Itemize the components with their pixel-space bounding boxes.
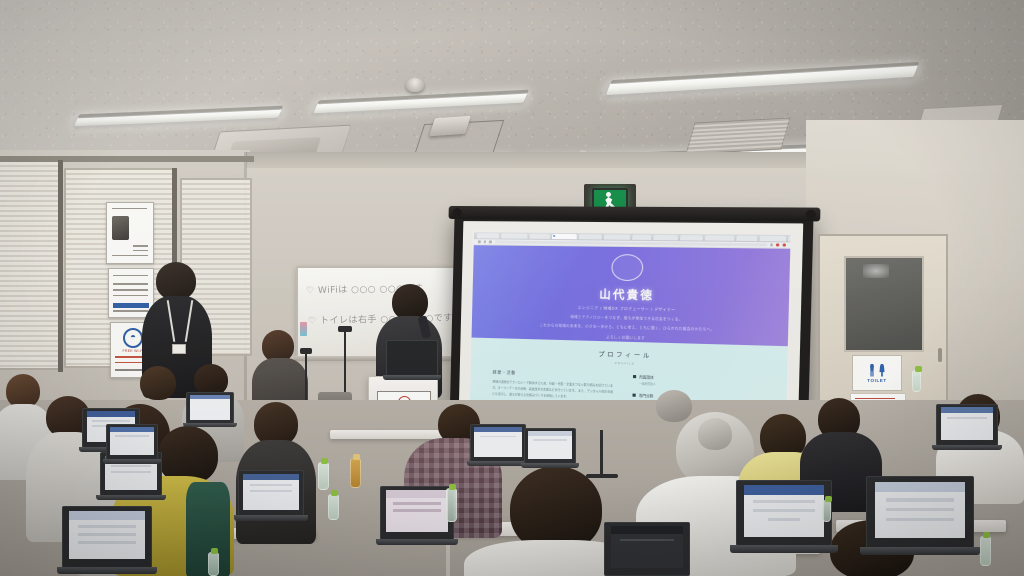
profile-item-label: 専門分野 <box>639 393 657 399</box>
browser-tab[interactable] <box>604 234 630 239</box>
circle-avatar-placeholder <box>611 254 643 281</box>
photo-scene: ◓ FREE Wi-Fi ♡ WiFiは ○○○ ○○○です ♡ トイレは右手 … <box>0 0 1024 576</box>
attendee-laptop[interactable] <box>470 424 526 462</box>
browser-tab[interactable] <box>477 233 499 238</box>
attendee-laptop[interactable] <box>62 506 152 568</box>
browser-tab[interactable] <box>736 236 757 241</box>
profile-item: 所属団体 一般社団法人 <box>633 374 763 390</box>
reload-icon[interactable] <box>489 241 492 244</box>
attendee-laptop[interactable] <box>380 486 454 540</box>
browser-tab[interactable] <box>632 235 651 240</box>
projected-browser-page: 山代貴徳 エンジニア / 地域DX プロデューサー / デザイナー 地域とテクノ… <box>470 232 791 413</box>
bookmark-icon[interactable] <box>770 244 773 247</box>
screen-top-rail <box>449 206 821 221</box>
browser-tab[interactable] <box>653 235 678 240</box>
attendee-head <box>140 366 176 400</box>
attendee-laptop[interactable] <box>604 522 690 576</box>
wall-soffit <box>246 152 826 168</box>
browser-tab[interactable] <box>788 236 790 242</box>
door-handle[interactable] <box>938 348 942 362</box>
tea-bottle[interactable] <box>350 458 361 488</box>
profile-left-heading: 経歴・活動 <box>493 369 617 379</box>
attendee-head <box>6 374 40 408</box>
mic-stand-head <box>338 326 352 332</box>
tripod-pole <box>600 430 603 478</box>
water-bottle[interactable] <box>318 462 329 490</box>
site-hero-name: 山代貴徳 <box>599 285 654 303</box>
water-bottle[interactable] <box>822 500 831 522</box>
ceiling-vent-1 <box>685 117 790 154</box>
site-hero-section: 山代貴徳 エンジニア / 地域DX プロデューサー / デザイナー 地域とテクノ… <box>472 245 791 346</box>
attendee-laptop[interactable] <box>524 428 576 464</box>
attendee-laptop[interactable] <box>238 470 304 516</box>
attendee-laptop[interactable] <box>106 424 158 460</box>
profile-left-body: 地域の課題をテクノロジーで解決するため、行政・市民・企業をつなぐ取り組みを続けて… <box>492 379 616 401</box>
forward-icon[interactable] <box>483 241 486 244</box>
toilet-sign: TOILET <box>852 355 902 391</box>
site-hero-subtitle: エンジニア / 地域DX プロデューサー / デザイナー <box>578 305 676 312</box>
site-hero-line-1: 地域とテクノロジーをつなぎ、誰もが参加できる社会をつくる。 <box>570 314 682 323</box>
wifi-icon: ◓ <box>123 328 143 348</box>
water-bottle[interactable] <box>446 488 457 522</box>
window-blind-1[interactable] <box>0 160 60 370</box>
attendee-laptop-far-right[interactable] <box>866 476 974 548</box>
bullet-square-icon <box>633 375 636 378</box>
browser-tab[interactable] <box>759 236 786 242</box>
profile-icon[interactable] <box>783 243 786 246</box>
profile-item-label: 所属団体 <box>639 374 656 380</box>
water-bottle[interactable] <box>912 370 921 392</box>
browser-tab[interactable] <box>705 235 734 241</box>
water-bottle[interactable] <box>208 552 219 576</box>
attendee-laptop[interactable] <box>936 404 998 446</box>
water-bottle[interactable] <box>328 494 339 520</box>
site-hero-line-2: これからの地域の未来を、小さな一歩から。ともに考え、ともに動く、ひらかれた議会の… <box>539 324 714 334</box>
water-bottle[interactable] <box>980 536 991 566</box>
attendee-laptop[interactable] <box>186 392 234 424</box>
smoke-detector-icon <box>406 78 424 92</box>
browser-tab-active[interactable] <box>552 234 577 239</box>
standing-person-head <box>156 262 196 300</box>
door-window-panel <box>844 256 924 352</box>
toilet-sign-label: TOILET <box>867 378 887 383</box>
attendee-head <box>698 418 732 450</box>
bullet-square-icon <box>632 394 635 397</box>
device-photo-icon <box>112 216 129 240</box>
attendee-laptop-right[interactable] <box>736 480 832 546</box>
blind-rail <box>0 156 254 162</box>
mic-stand-2-head <box>300 348 312 354</box>
presenter-head <box>392 284 428 320</box>
ceiling-projector-mount <box>429 116 471 137</box>
name-badge <box>172 344 186 354</box>
tripod-base <box>586 474 618 478</box>
poster-device-notice <box>106 202 154 264</box>
browser-tab[interactable] <box>579 234 602 239</box>
browser-tab[interactable] <box>501 233 527 238</box>
profile-item-sub: 一般社団法人 <box>639 381 656 386</box>
browser-tab[interactable] <box>680 235 703 240</box>
window-mullion-1 <box>58 160 63 372</box>
attendee-head <box>656 390 692 422</box>
restroom-icon <box>869 364 886 377</box>
whiteboard-magnet[interactable] <box>300 322 307 336</box>
presenter-laptop[interactable] <box>386 340 438 376</box>
extension-icon[interactable] <box>776 243 779 246</box>
browser-tab[interactable] <box>529 234 550 239</box>
back-icon[interactable] <box>478 240 481 243</box>
